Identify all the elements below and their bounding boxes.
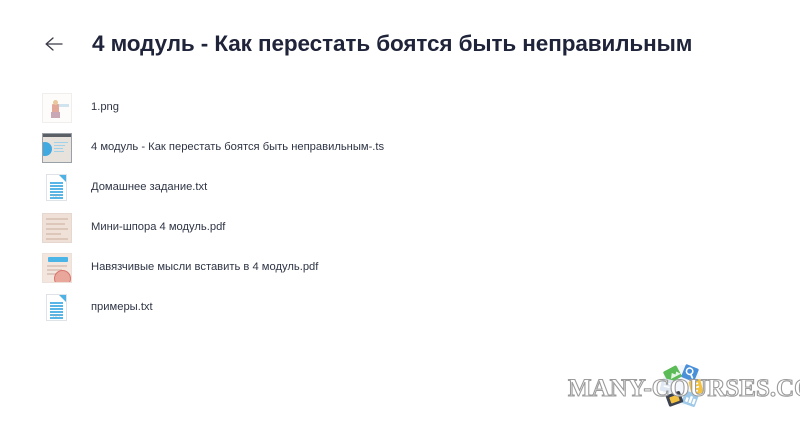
watermark-text: MANY-COURSES.COM bbox=[568, 376, 794, 401]
file-name: 4 модуль - Как перестать боятся быть неп… bbox=[72, 142, 384, 153]
file-ext-label: TXT bbox=[47, 194, 66, 198]
txt-document-icon: TXT bbox=[42, 173, 72, 203]
list-item[interactable]: Мини-шпора 4 модуль.pdf bbox=[42, 208, 800, 248]
txt-document-icon: TXT bbox=[42, 293, 72, 323]
pdf-page-thumbnail bbox=[42, 213, 72, 243]
arrow-left-icon bbox=[44, 36, 66, 52]
watermark: MANY-COURSES.COM bbox=[568, 358, 794, 418]
file-name: 1.png bbox=[72, 102, 119, 113]
back-button[interactable] bbox=[42, 31, 68, 57]
image-thumbnail bbox=[42, 93, 72, 123]
list-item[interactable]: TXT примеры.txt bbox=[42, 288, 800, 328]
file-name: Навязчивые мысли вставить в 4 модуль.pdf bbox=[72, 262, 318, 273]
video-thumbnail bbox=[42, 133, 72, 163]
file-ext-label: TXT bbox=[47, 314, 66, 318]
file-name: Домашнее задание.txt bbox=[72, 182, 207, 193]
file-name: примеры.txt bbox=[72, 302, 153, 313]
file-name: Мини-шпора 4 модуль.pdf bbox=[72, 222, 225, 233]
globe-tiles-logo bbox=[655, 358, 709, 412]
list-item[interactable]: 1.png bbox=[42, 88, 800, 128]
list-item[interactable]: Навязчивые мысли вставить в 4 модуль.pdf bbox=[42, 248, 800, 288]
list-item[interactable]: 4 модуль - Как перестать боятся быть неп… bbox=[42, 128, 800, 168]
list-item[interactable]: TXT Домашнее задание.txt bbox=[42, 168, 800, 208]
page-title: 4 модуль - Как перестать боятся быть неп… bbox=[68, 33, 692, 56]
file-list: 1.png 4 модуль - Как перестать боятся бы… bbox=[0, 88, 800, 328]
pdf-page-thumbnail bbox=[42, 253, 72, 283]
page-header: 4 модуль - Как перестать боятся быть неп… bbox=[0, 0, 800, 88]
